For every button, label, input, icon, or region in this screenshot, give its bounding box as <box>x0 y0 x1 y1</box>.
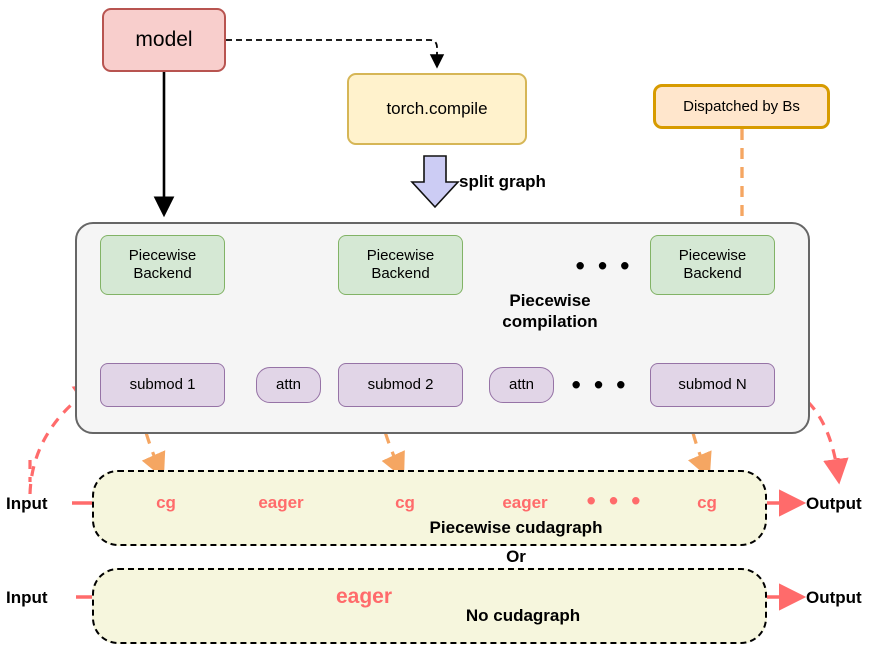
pipeline1-item-cg-1: cg <box>156 493 176 513</box>
pipeline2-input-label: Input <box>6 588 48 608</box>
submod-1-box[interactable]: submod 1 <box>100 363 225 407</box>
pipeline1-input-label: Input <box>6 494 48 514</box>
model-box[interactable]: model <box>102 8 226 72</box>
split-graph-arrow <box>412 156 458 207</box>
pipeline2-item-eager: eager <box>336 585 392 609</box>
pipeline1-ellipsis: • • • <box>587 486 644 517</box>
piecewise-backend-1[interactable]: Piecewise Backend <box>100 235 225 295</box>
pipeline2-output-label: Output <box>806 588 862 608</box>
piecewise-backend-3[interactable]: Piecewise Backend <box>650 235 775 295</box>
attn-2-box[interactable]: attn <box>489 367 554 403</box>
pipeline1-item-cg-3: cg <box>697 493 717 513</box>
no-cudagraph-box <box>92 568 767 644</box>
dispatched-by-bs-box[interactable]: Dispatched by Bs <box>653 84 830 129</box>
split-graph-label: split graph <box>459 172 546 192</box>
pipeline1-output-label: Output <box>806 494 862 514</box>
pipeline1-item-eager-1: eager <box>258 493 303 513</box>
attn-1-box[interactable]: attn <box>256 367 321 403</box>
piecewise-compilation-label: Piecewise compilation <box>455 290 645 333</box>
torch-compile-box[interactable]: torch.compile <box>347 73 527 145</box>
submod-2-box[interactable]: submod 2 <box>338 363 463 407</box>
diagram-canvas: model torch.compile Dispatched by Bs spl… <box>0 0 874 663</box>
piecewise-backend-2[interactable]: Piecewise Backend <box>338 235 463 295</box>
pipeline1-item-eager-2: eager <box>502 493 547 513</box>
backend-row-ellipsis: • • • <box>576 251 633 282</box>
submod-n-box[interactable]: submod N <box>650 363 775 407</box>
or-label: Or <box>506 547 526 567</box>
submod-row-ellipsis: • • • <box>572 370 629 401</box>
pipeline1-item-cg-2: cg <box>395 493 415 513</box>
edge-model-to-torchcompile <box>226 40 437 65</box>
piecewise-cudagraph-caption: Piecewise cudagraph <box>430 518 603 538</box>
no-cudagraph-caption: No cudagraph <box>466 606 580 626</box>
